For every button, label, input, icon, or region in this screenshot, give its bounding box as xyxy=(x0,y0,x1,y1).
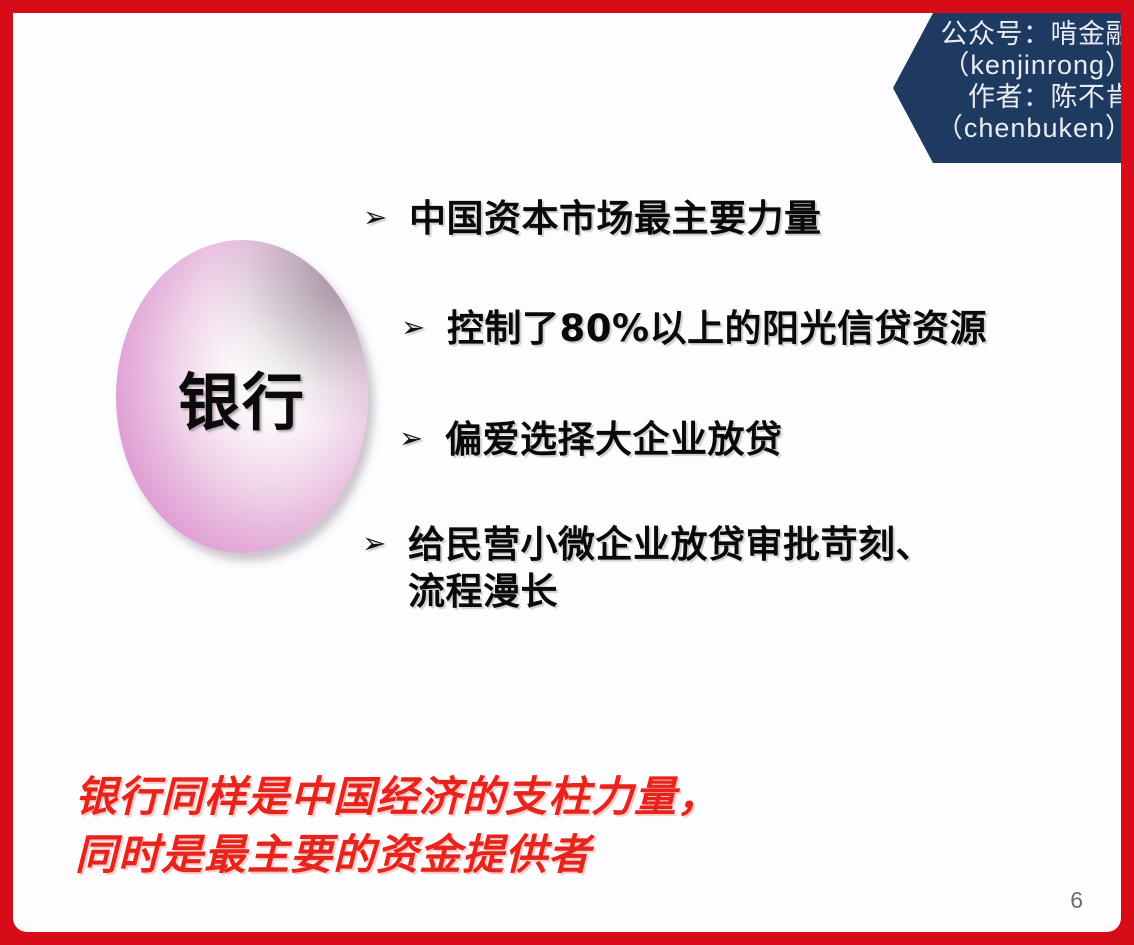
banner-line-account: 公众号：啃金融 xyxy=(893,19,1121,50)
conclusion-text: 银行同样是中国经济的支柱力量， 同时是最主要的资金提供者 xyxy=(75,768,720,884)
bullet-item: ➢ 偏爱选择大企业放贷 xyxy=(399,416,783,463)
author-banner: 公众号：啃金融 （kenjinrong） 作者：陈不肯 （chenbuken） xyxy=(893,13,1121,163)
bullet-text: 偏爱选择大企业放贷 xyxy=(445,416,783,463)
banner-line-author-id: （chenbuken） xyxy=(893,113,1121,144)
bullet-text: 控制了80%以上的阳光信贷资源 xyxy=(447,305,987,352)
slide-body: 公众号：啃金融 （kenjinrong） 作者：陈不肯 （chenbuken） … xyxy=(13,13,1121,932)
slide-canvas: 公众号：啃金融 （kenjinrong） 作者：陈不肯 （chenbuken） … xyxy=(0,0,1134,945)
diagram-node-bank: 银行 xyxy=(116,240,378,565)
page-number: 6 xyxy=(1070,887,1083,914)
bullet-arrow-icon: ➢ xyxy=(399,416,445,461)
bullet-arrow-icon: ➢ xyxy=(401,305,447,350)
bullet-arrow-icon: ➢ xyxy=(363,195,409,240)
bullet-item: ➢ 给民营小微企业放贷审批苛刻、 流程漫长 xyxy=(362,521,933,616)
bullet-arrow-icon: ➢ xyxy=(362,521,408,566)
banner-line-account-id: （kenjinrong） xyxy=(893,50,1121,81)
bullet-item: ➢ 中国资本市场最主要力量 xyxy=(363,195,822,242)
bullet-text: 给民营小微企业放贷审批苛刻、 流程漫长 xyxy=(408,521,933,616)
bullet-text: 中国资本市场最主要力量 xyxy=(409,195,822,242)
ellipse-label: 银行 xyxy=(116,352,368,442)
bullet-item: ➢ 控制了80%以上的阳光信贷资源 xyxy=(401,305,987,352)
banner-line-author: 作者：陈不肯 xyxy=(893,82,1121,113)
